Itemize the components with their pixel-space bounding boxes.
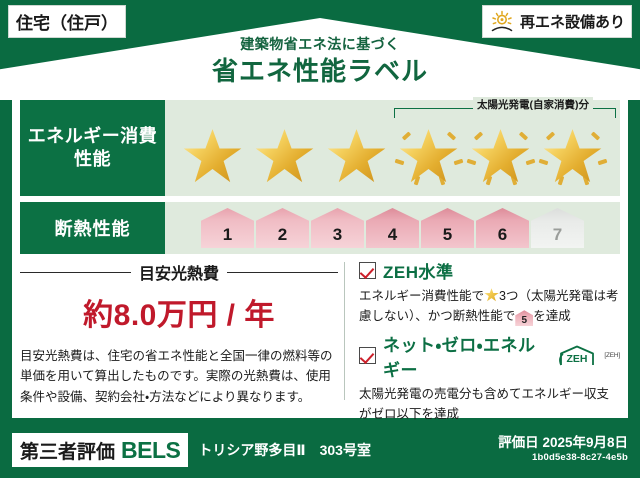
criterion-net-zero-body: 太陽光発電の売電分も含めてエネルギー収支がゼロ以下を達成 <box>359 384 620 425</box>
sparkle-icon <box>597 159 607 166</box>
criterion-zeh-body-pre: エネルギー消費性能で <box>359 289 484 303</box>
sparkle-icon <box>453 159 463 166</box>
sparkle-icon <box>473 132 482 141</box>
star-1 <box>179 122 247 186</box>
insulation-level-scale: 1 2 3 4 5 <box>165 202 620 254</box>
energy-performance-label-box: エネルギー消費性能 <box>20 100 165 196</box>
bels-jp-label: 第三者評価 <box>20 437 115 464</box>
property-name: トリシア野多目Ⅱ <box>198 440 305 460</box>
insulation-level-2: 2 <box>256 206 309 250</box>
sparkle-icon <box>525 159 535 166</box>
heading-rule-left <box>20 272 131 273</box>
sparkle-icon <box>401 132 410 141</box>
utility-cost-section: 目安光熱費 約8.0万円 / 年 目安光熱費は、住宅の省エネ性能と全国一律の燃料… <box>20 258 338 410</box>
insulation-performance-row: 断熱性能 1 2 3 4 <box>20 202 620 254</box>
house-icon: 1 <box>201 208 254 248</box>
house-icon: 4 <box>366 208 419 248</box>
building-type-badge: 住宅（住戸） <box>8 5 126 38</box>
criterion-zeh-level-title: ZEH水準 <box>383 258 454 283</box>
renewable-badge-label: 再エネ設備あり <box>520 11 625 32</box>
house-icon: 5 <box>515 310 533 326</box>
sparkle-icon <box>545 132 554 141</box>
criteria-section: ZEH水準 エネルギー消費性能で3つ（太陽光発電は考慮しない）、かつ断熱性能で5… <box>355 258 620 410</box>
insulation-level-7: 7 <box>531 206 584 250</box>
sparkle-icon <box>590 132 599 141</box>
sun-renewable-icon <box>489 10 515 34</box>
check-icon <box>359 347 376 364</box>
utility-cost-heading-label: 目安光熱費 <box>139 260 219 284</box>
insulation-scale-panel: 1 2 3 4 5 <box>165 202 620 254</box>
star-3 <box>323 122 391 186</box>
criterion-net-zero-head: ネット・ゼロ・エネルギー ZEH [ZEH] <box>359 331 620 381</box>
energy-star-rating <box>165 100 620 196</box>
property-room: 303号室 <box>320 440 371 460</box>
utility-cost-note: 目安光熱費は、住宅の省エネ性能と全国一律の燃料等の単価を用いて算出したものです。… <box>20 346 338 407</box>
star-icon <box>183 128 243 185</box>
building-type-badge-label: 住宅（住戸） <box>16 9 118 34</box>
house-icon: 3 <box>311 208 364 248</box>
criterion-zeh-level: ZEH水準 エネルギー消費性能で3つ（太陽光発電は考慮しない）、かつ断熱性能で5… <box>359 258 620 327</box>
sparkle-icon <box>394 159 404 166</box>
sparkle-icon <box>466 159 476 166</box>
star-5-solar <box>467 122 535 186</box>
utility-cost-value: 約8.0万円 / 年 <box>20 290 338 334</box>
criterion-zeh-body-post: を達成 <box>533 309 571 323</box>
bels-en-label: BELS <box>121 437 180 464</box>
insulation-level-4: 4 <box>366 206 419 250</box>
star-icon <box>484 288 499 302</box>
insulation-level-5: 5 <box>421 206 474 250</box>
zeh-house-logo-icon: ZEH <box>557 345 597 367</box>
check-icon <box>359 262 376 279</box>
sparkle-icon <box>446 132 455 141</box>
evaluation-id: 1b0d5e38-8c27-4e5b <box>498 452 628 464</box>
house-icon: 7 <box>531 208 584 248</box>
insulation-level-6: 6 <box>476 206 529 250</box>
insulation-performance-label-box: 断熱性能 <box>20 202 165 254</box>
evaluation-info: 評価日 2025年9月8日 1b0d5e38-8c27-4e5b <box>498 435 628 465</box>
zeh-logo-subscript: [ZEH] <box>604 352 620 359</box>
criterion-zeh-level-body: エネルギー消費性能で3つ（太陽光発電は考慮しない）、かつ断熱性能で5を達成 <box>359 286 620 327</box>
house-icon: 5 <box>421 208 474 248</box>
renewable-equipment-badge: 再エネ設備あり <box>482 5 632 38</box>
star-6-solar <box>539 122 607 186</box>
utility-cost-heading: 目安光熱費 <box>20 260 338 284</box>
energy-performance-label: 住宅（住戸） 再エネ設備あり 建築物省エネ法に基づく 省 <box>0 0 640 478</box>
criterion-zeh-level-head: ZEH水準 <box>359 258 620 283</box>
footer-bar: 第三者評価 BELS トリシア野多目Ⅱ 303号室 評価日 2025年9月8日 … <box>0 422 640 478</box>
insulation-level-3: 3 <box>311 206 364 250</box>
energy-performance-row: エネルギー消費性能 太陽光発電(自家消費)分 <box>20 100 620 196</box>
bels-logo: 第三者評価 BELS <box>12 433 188 467</box>
star-icon <box>255 128 315 185</box>
star-4-solar <box>395 122 463 186</box>
insulation-level-1: 1 <box>201 206 254 250</box>
section-divider <box>344 262 345 400</box>
energy-performance-stars-panel: 太陽光発電(自家消費)分 <box>165 100 620 196</box>
svg-text:ZEH: ZEH <box>567 353 588 365</box>
sparkle-icon <box>538 159 548 166</box>
lower-section: 目安光熱費 約8.0万円 / 年 目安光熱費は、住宅の省エネ性能と全国一律の燃料… <box>20 258 620 410</box>
heading-rule-right <box>227 272 338 273</box>
criterion-net-zero-title: ネット・ゼロ・エネルギー <box>383 331 548 381</box>
evaluation-date: 評価日 2025年9月8日 <box>498 435 628 451</box>
criterion-net-zero-energy: ネット・ゼロ・エネルギー ZEH [ZEH] 太陽光発電の売電分も含めてエネルギ… <box>359 331 620 425</box>
star-icon <box>327 128 387 185</box>
house-icon: 2 <box>256 208 309 248</box>
star-2 <box>251 122 319 186</box>
sparkle-icon <box>518 132 527 141</box>
house-icon: 6 <box>476 208 529 248</box>
